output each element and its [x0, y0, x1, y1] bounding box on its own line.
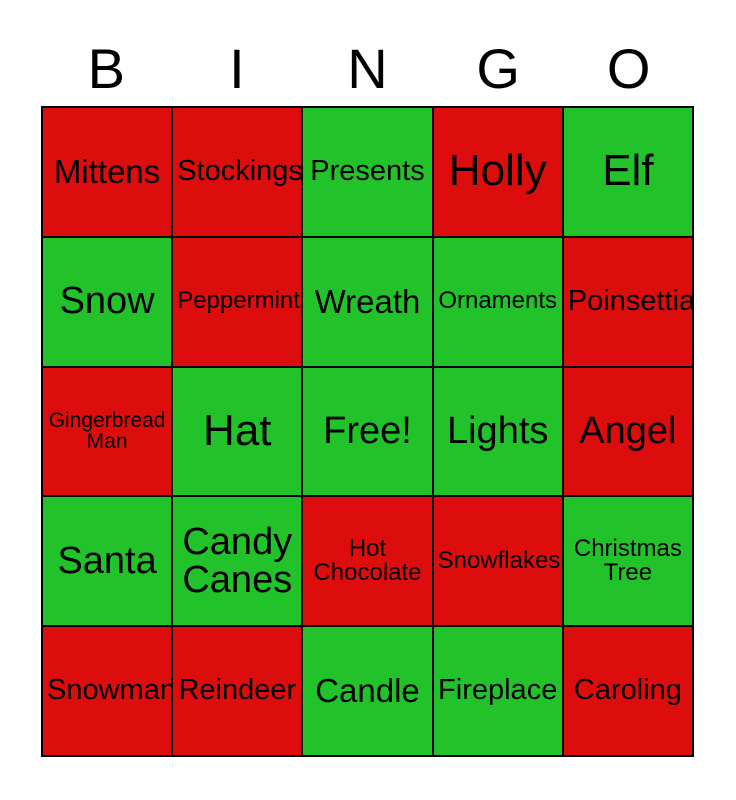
bingo-header-row: BINGO [41, 36, 694, 102]
bingo-cell-lights[interactable]: Lights [434, 368, 564, 498]
bingo-cell-wreath[interactable]: Wreath [303, 238, 433, 368]
bingo-cell-label: Santa [47, 542, 167, 581]
bingo-cell-santa[interactable]: Santa [43, 497, 173, 627]
bingo-cell-presents[interactable]: Presents [303, 108, 433, 238]
bingo-cell-caroling[interactable]: Caroling [564, 627, 694, 757]
bingo-cell-label: Snow [47, 282, 167, 321]
bingo-cell-stockings[interactable]: Stockings [173, 108, 303, 238]
bingo-cell-label: Stockings [177, 157, 297, 187]
bingo-cell-reindeer[interactable]: Reindeer [173, 627, 303, 757]
bingo-cell-label: Wreath [307, 285, 427, 319]
bingo-cell-label: Snowman [47, 676, 167, 706]
bingo-cell-holly[interactable]: Holly [434, 108, 564, 238]
bingo-cell-label: Peppermint [177, 289, 297, 313]
bingo-cell-snowflakes[interactable]: Snowflakes [434, 497, 564, 627]
bingo-cell-label: Hot Chocolate [307, 537, 427, 586]
bingo-cell-snow[interactable]: Snow [43, 238, 173, 368]
bingo-cell-label: Presents [307, 157, 427, 187]
bingo-cell-label: Candy Canes [177, 523, 297, 601]
bingo-cell-label: Elf [568, 149, 688, 194]
bingo-cell-label: Poinsettia [568, 287, 688, 317]
bingo-cell-elf[interactable]: Elf [564, 108, 694, 238]
bingo-cell-ornaments[interactable]: Ornaments [434, 238, 564, 368]
bingo-cell-label: Fireplace [438, 676, 558, 706]
bingo-cell-label: Snowflakes [438, 549, 558, 573]
bingo-cell-hot-chocolate[interactable]: Hot Chocolate [303, 497, 433, 627]
bingo-cell-label: Gingerbread Man [47, 410, 167, 453]
bingo-cell-label: Lights [438, 412, 558, 451]
bingo-cell-label: Hat [177, 409, 297, 454]
bingo-cell-label: Holly [438, 149, 558, 194]
bingo-cell-candy-canes[interactable]: Candy Canes [173, 497, 303, 627]
bingo-cell-label: Ornaments [438, 289, 558, 313]
bingo-cell-candle[interactable]: Candle [303, 627, 433, 757]
bingo-cell-fireplace[interactable]: Fireplace [434, 627, 564, 757]
bingo-cell-christmas-tree[interactable]: Christmas Tree [564, 497, 694, 627]
bingo-cell-label: Angel [568, 412, 688, 451]
bingo-cell-peppermint[interactable]: Peppermint [173, 238, 303, 368]
bingo-cell-poinsettia[interactable]: Poinsettia [564, 238, 694, 368]
bingo-grid: MittensStockingsPresentsHollyElfSnowPepp… [41, 106, 694, 757]
bingo-header-letter-i: I [172, 36, 303, 102]
bingo-cell-label: Caroling [568, 676, 688, 706]
bingo-cell-mittens[interactable]: Mittens [43, 108, 173, 238]
bingo-cell-hat[interactable]: Hat [173, 368, 303, 498]
bingo-cell-label: Christmas Tree [568, 537, 688, 586]
bingo-header-letter-o: O [563, 36, 694, 102]
bingo-cell-label: Reindeer [177, 676, 297, 706]
bingo-cell-free[interactable]: Free! [303, 368, 433, 498]
bingo-cell-angel[interactable]: Angel [564, 368, 694, 498]
bingo-cell-label: Free! [307, 412, 427, 451]
bingo-header-letter-g: G [433, 36, 564, 102]
bingo-cell-label: Candle [307, 674, 427, 708]
bingo-card: BINGO MittensStockingsPresentsHollyElfSn… [0, 0, 736, 800]
bingo-header-letter-b: B [41, 36, 172, 102]
bingo-cell-label: Mittens [47, 155, 167, 189]
bingo-cell-snowman[interactable]: Snowman [43, 627, 173, 757]
bingo-header-letter-n: N [302, 36, 433, 102]
bingo-cell-gingerbread-man[interactable]: Gingerbread Man [43, 368, 173, 498]
